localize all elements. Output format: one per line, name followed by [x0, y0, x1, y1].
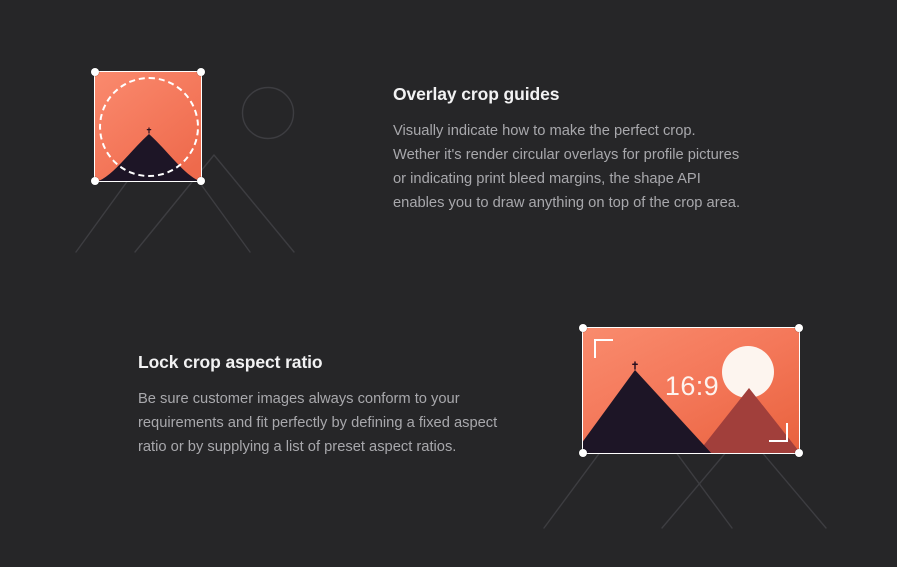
crop-handle-bottom-right[interactable]	[197, 177, 205, 185]
square-crop-widget[interactable]	[94, 71, 202, 182]
showcase-page: Overlay crop guides Visually indicate ho…	[0, 0, 897, 567]
crop-frame[interactable]	[94, 71, 202, 182]
crop-handle-top-left[interactable]	[91, 68, 99, 76]
crop-bracket-bottom-right	[769, 423, 788, 442]
crop-handle-bottom-left[interactable]	[579, 449, 587, 457]
wide-crop-widget[interactable]: 16:9	[582, 327, 800, 454]
feature-section-lock-crop-aspect-ratio: 16:9 Lock crop aspect ratio Be sure cust…	[0, 283, 897, 567]
crop-handle-top-right[interactable]	[795, 324, 803, 332]
lock-crop-aspect-ratio-text: Lock crop aspect ratio Be sure customer …	[138, 352, 498, 459]
lineart-sun-icon	[243, 88, 294, 139]
feature-description: Be sure customer images always conform t…	[138, 387, 498, 459]
feature-description: Visually indicate how to make the perfec…	[393, 119, 745, 215]
crop-handle-bottom-right[interactable]	[795, 449, 803, 457]
mountain-sunset-sun-illustration: 16:9	[583, 328, 799, 453]
feature-title: Overlay crop guides	[393, 84, 745, 105]
crop-bracket-top-left	[594, 339, 613, 358]
overlay-crop-guides-text: Overlay crop guides Visually indicate ho…	[393, 84, 745, 215]
feature-title: Lock crop aspect ratio	[138, 352, 498, 373]
crop-preview-image: 16:9	[583, 328, 799, 453]
circle-crop-guide-overlay	[99, 77, 199, 177]
crop-frame[interactable]: 16:9	[582, 327, 800, 454]
crop-handle-bottom-left[interactable]	[91, 177, 99, 185]
feature-section-overlay-crop-guides: Overlay crop guides Visually indicate ho…	[0, 0, 897, 283]
crop-handle-top-left[interactable]	[579, 324, 587, 332]
aspect-ratio-label-text: 16:9	[665, 371, 719, 401]
crop-handle-top-right[interactable]	[197, 68, 205, 76]
